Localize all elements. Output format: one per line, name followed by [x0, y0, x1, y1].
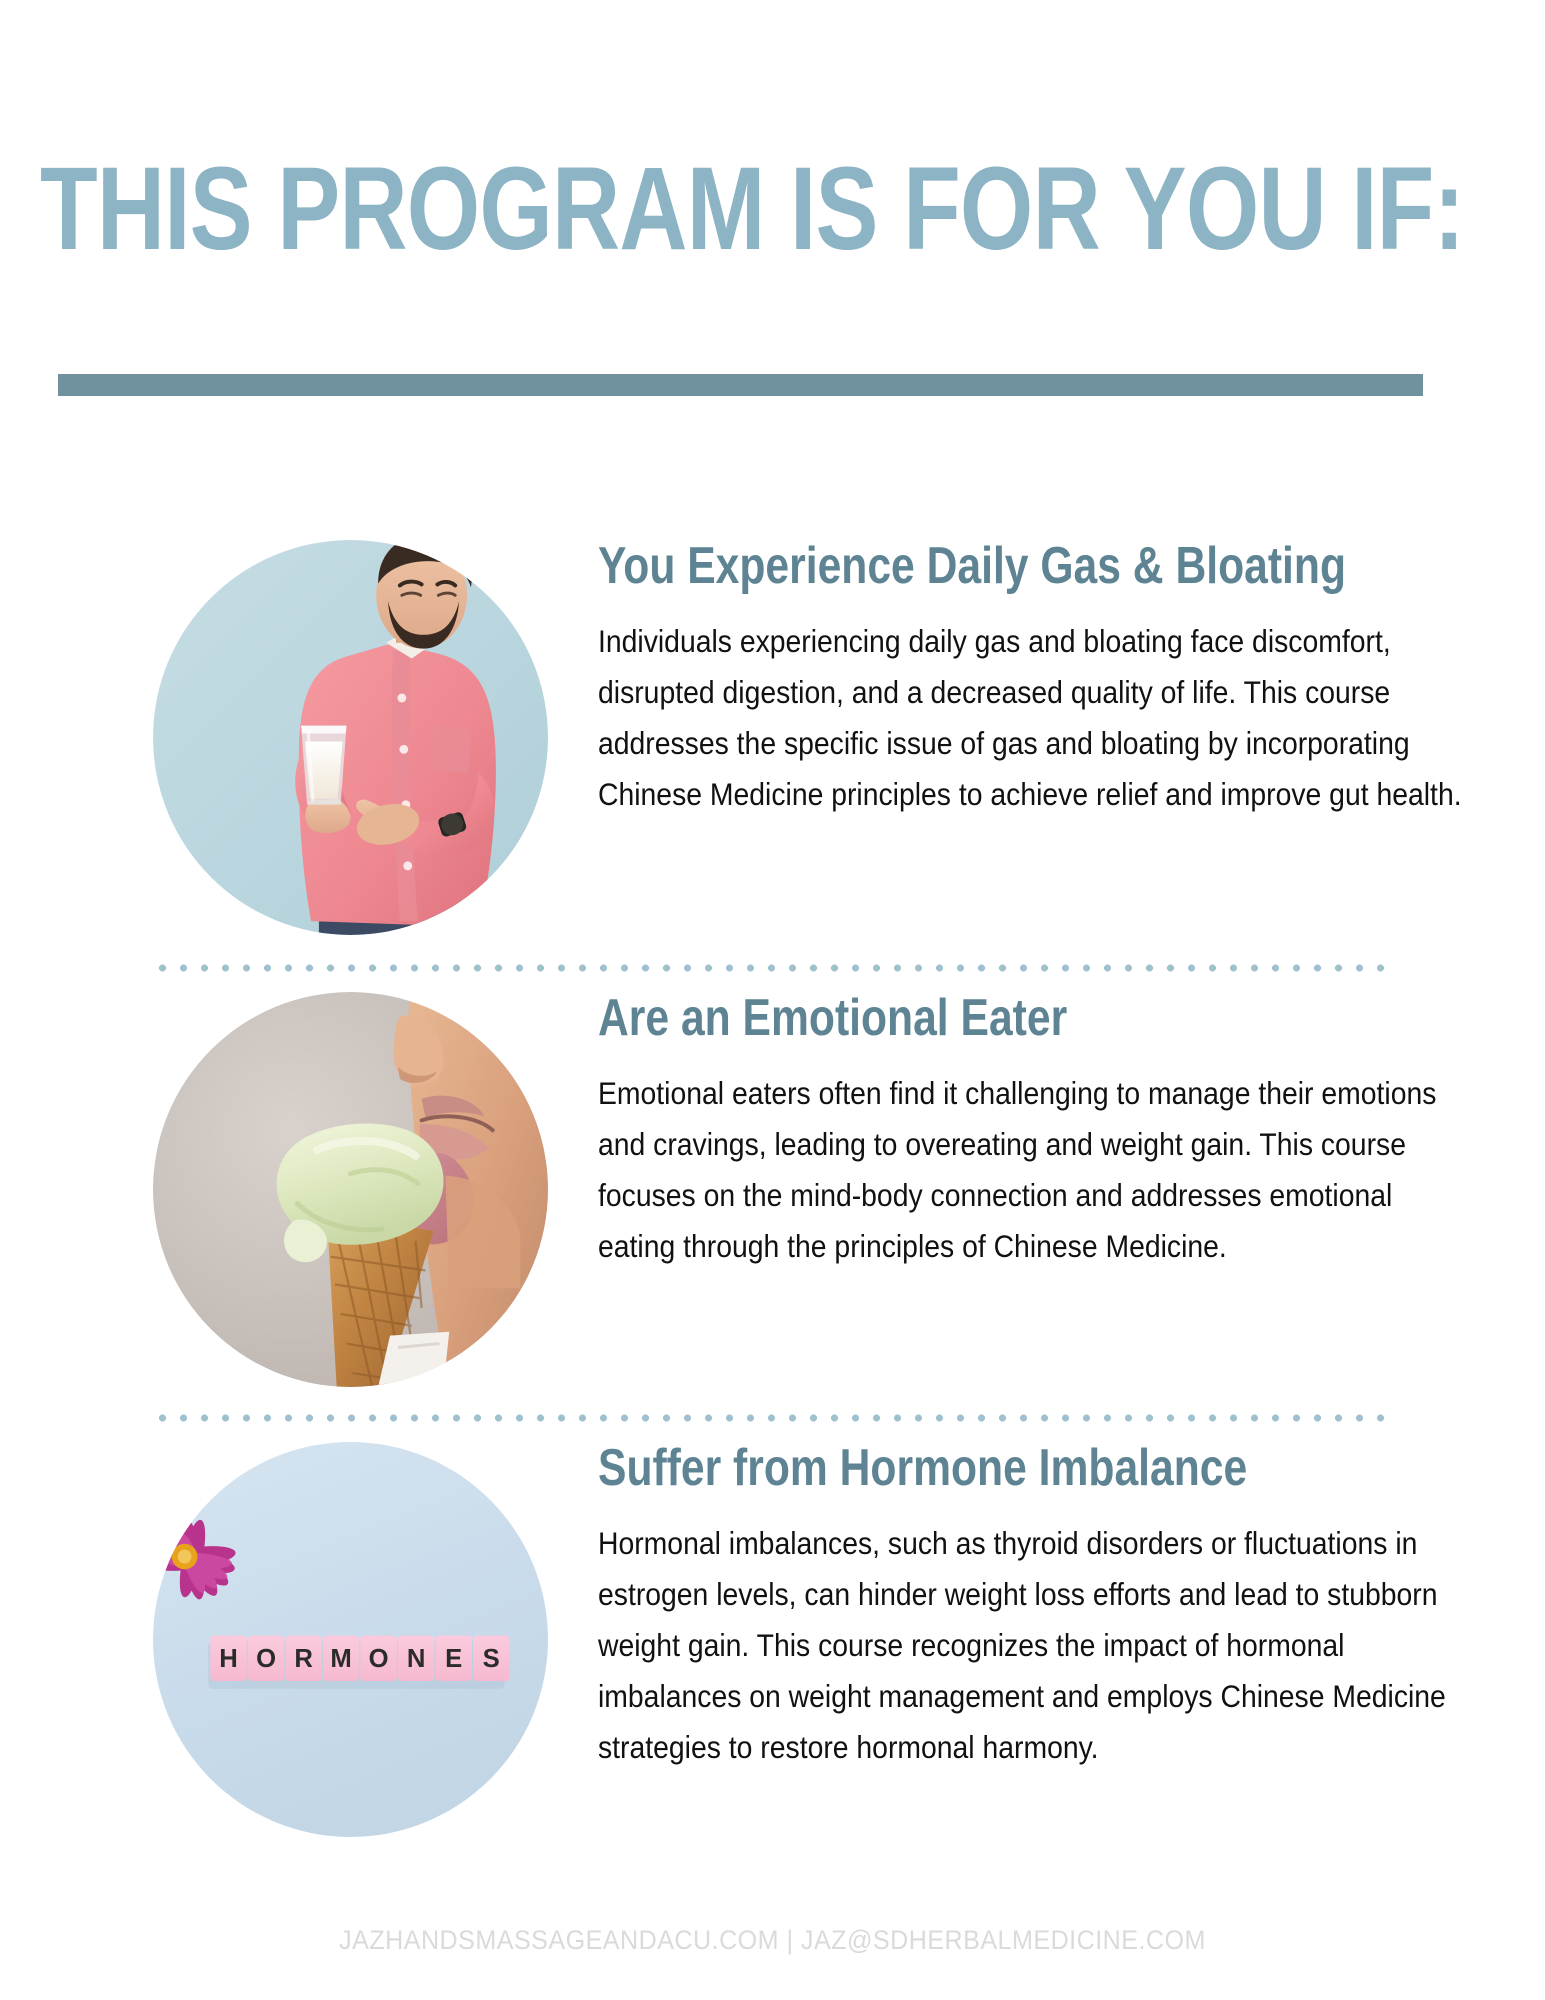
section-thumbnail-1	[153, 540, 548, 935]
title-underline-rule	[58, 374, 1423, 396]
section-body: Individuals experiencing daily gas and b…	[598, 616, 1462, 820]
man-with-stomach-ache-holding-milk-photo	[153, 540, 548, 935]
section-copy-1: You Experience Daily Gas & Bloating Indi…	[598, 540, 1460, 820]
svg-text:O: O	[369, 1645, 389, 1673]
section-divider-dotted-1	[152, 963, 1392, 973]
svg-text:E: E	[445, 1645, 462, 1673]
section-heading: You Experience Daily Gas & Bloating	[598, 540, 1305, 592]
section-heading: Suffer from Hormone Imbalance	[598, 1442, 1305, 1494]
section-copy-3: Suffer from Hormone Imbalance Hormonal i…	[598, 1442, 1460, 1773]
infographic-page: THIS PROGRAM IS FOR YOU IF:	[0, 0, 1545, 2000]
footer-contact: JAZHANDSMASSAGEANDACU.COM | JAZ@SDHERBAL…	[54, 1925, 1491, 1956]
svg-text:M: M	[330, 1645, 351, 1673]
page-title: THIS PROGRAM IS FOR YOU IF:	[40, 150, 1176, 268]
svg-text:H: H	[219, 1645, 238, 1673]
section-body: Hormonal imbalances, such as thyroid dis…	[598, 1518, 1462, 1773]
section-thumbnail-2	[153, 992, 548, 1387]
section-thumbnail-3: H O R M O N E S	[153, 1442, 548, 1837]
hormones-letter-tiles-photo: H O R M O N E S	[153, 1442, 548, 1837]
section-copy-2: Are an Emotional Eater Emotional eaters …	[598, 992, 1460, 1272]
svg-text:O: O	[256, 1645, 276, 1673]
section-body: Emotional eaters often find it challengi…	[598, 1068, 1462, 1272]
svg-text:R: R	[294, 1645, 313, 1673]
svg-text:N: N	[407, 1645, 426, 1673]
person-licking-ice-cream-cone-photo	[153, 992, 548, 1387]
section-heading: Are an Emotional Eater	[598, 992, 1305, 1044]
section-divider-dotted-2	[152, 1413, 1392, 1423]
svg-text:S: S	[483, 1645, 500, 1673]
